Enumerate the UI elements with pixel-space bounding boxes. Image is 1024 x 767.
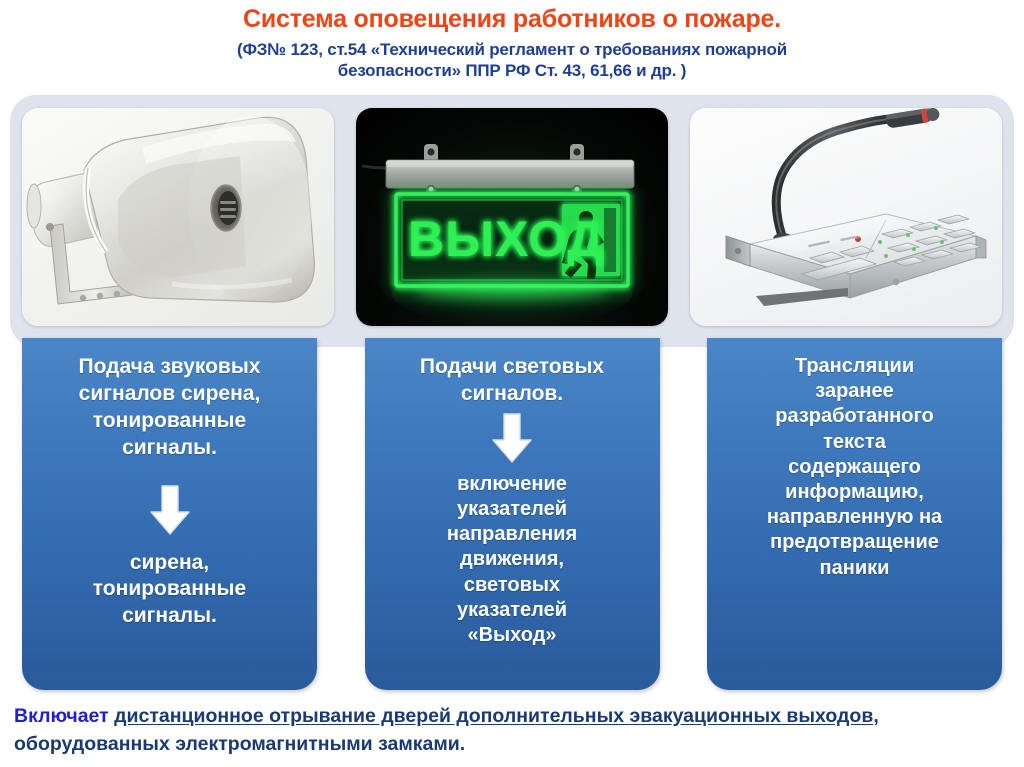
footer-note: Включает дистанционное отрывание дверей … (14, 702, 1014, 758)
subtitle-line-1: (ФЗ№ 123, ст.54 «Технический регламент о… (0, 39, 1024, 61)
photo-illuminated-exit-sign: ВЫХОД (356, 108, 668, 326)
photo-row: ВЫХОД (0, 108, 1024, 330)
exit-sign-text: ВЫХОД (408, 211, 604, 267)
page-subtitle: (ФЗ№ 123, ст.54 «Технический регламент о… (0, 34, 1024, 83)
column-2-heading: Подачи световых сигналов. (420, 354, 604, 408)
slide-root: Система оповещения работников о пожаре. … (0, 0, 1024, 767)
column-1-result: сирена, тонированные сигналы. (93, 550, 246, 631)
column-3-heading: Трансляции заранее разработанного текста… (767, 354, 942, 581)
photo-horn-siren-loudspeaker (22, 108, 334, 326)
footer-lead: Включает (14, 705, 114, 727)
down-arrow-icon (147, 484, 193, 536)
column-1-heading: Подача звуковых сигналов сирена, тониров… (79, 354, 261, 462)
horn-siren-icon (22, 108, 334, 326)
subtitle-line-2: безопасности» ППР РФ Ст. 43, 61,66 и др.… (0, 60, 1024, 82)
info-columns: Подача звуковых сигналов сирена, тониров… (0, 338, 1024, 690)
footer-underlined: дистанционное отрывание дверей дополните… (114, 705, 873, 727)
exit-sign-icon: ВЫХОД (356, 108, 668, 326)
column-2-result: включение указателей направления движени… (447, 472, 577, 648)
microphone-console-icon (690, 108, 1002, 326)
column-voice-broadcast: Трансляции заранее разработанного текста… (707, 338, 1002, 690)
column-light-signals: Подачи световых сигналов. включение указ… (365, 338, 660, 690)
slide-header: Система оповещения работников о пожаре. … (0, 0, 1024, 96)
page-title: Система оповещения работников о пожаре. (0, 0, 1024, 34)
photo-paging-microphone-console (690, 108, 1002, 326)
column-sound-signals: Подача звуковых сигналов сирена, тониров… (22, 338, 317, 690)
down-arrow-icon (489, 412, 535, 464)
